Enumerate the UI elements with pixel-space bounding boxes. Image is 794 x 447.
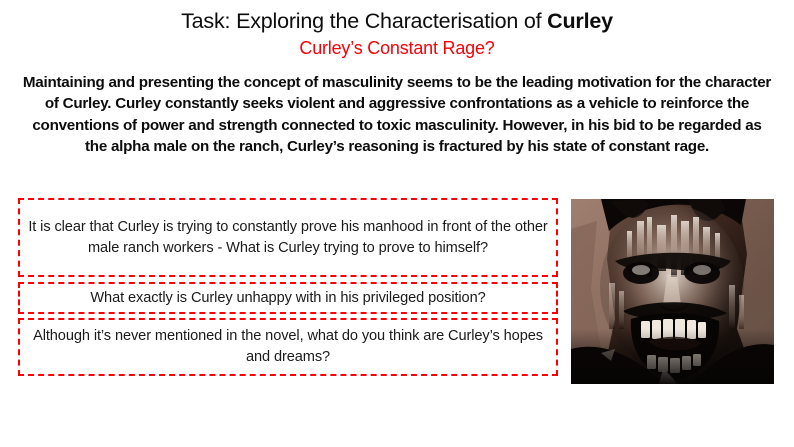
slide-canvas: Task: Exploring the Characterisation of … — [0, 0, 794, 447]
page-title-emphasis: Curley — [547, 9, 613, 33]
page-title: Task: Exploring the Characterisation of … — [0, 8, 794, 34]
question-box-3-text: Although it’s never mentioned in the nov… — [28, 326, 548, 368]
question-box-2: What exactly is Curley unhappy with in h… — [18, 282, 558, 314]
question-box-2-text: What exactly is Curley unhappy with in h… — [90, 288, 485, 309]
title-block: Task: Exploring the Characterisation of … — [0, 8, 794, 59]
body-paragraph: Maintaining and presenting the concept o… — [22, 72, 772, 157]
question-box-3: Although it’s never mentioned in the nov… — [18, 318, 558, 376]
page-title-text: Task: Exploring the Characterisation of — [181, 9, 547, 33]
question-box-1-text: It is clear that Curley is trying to con… — [28, 217, 548, 259]
page-subtitle: Curley’s Constant Rage? — [0, 37, 794, 59]
question-box-1: It is clear that Curley is trying to con… — [18, 198, 558, 277]
screaming-face-painting — [571, 199, 774, 384]
screaming-face-artwork-svg — [571, 199, 774, 384]
